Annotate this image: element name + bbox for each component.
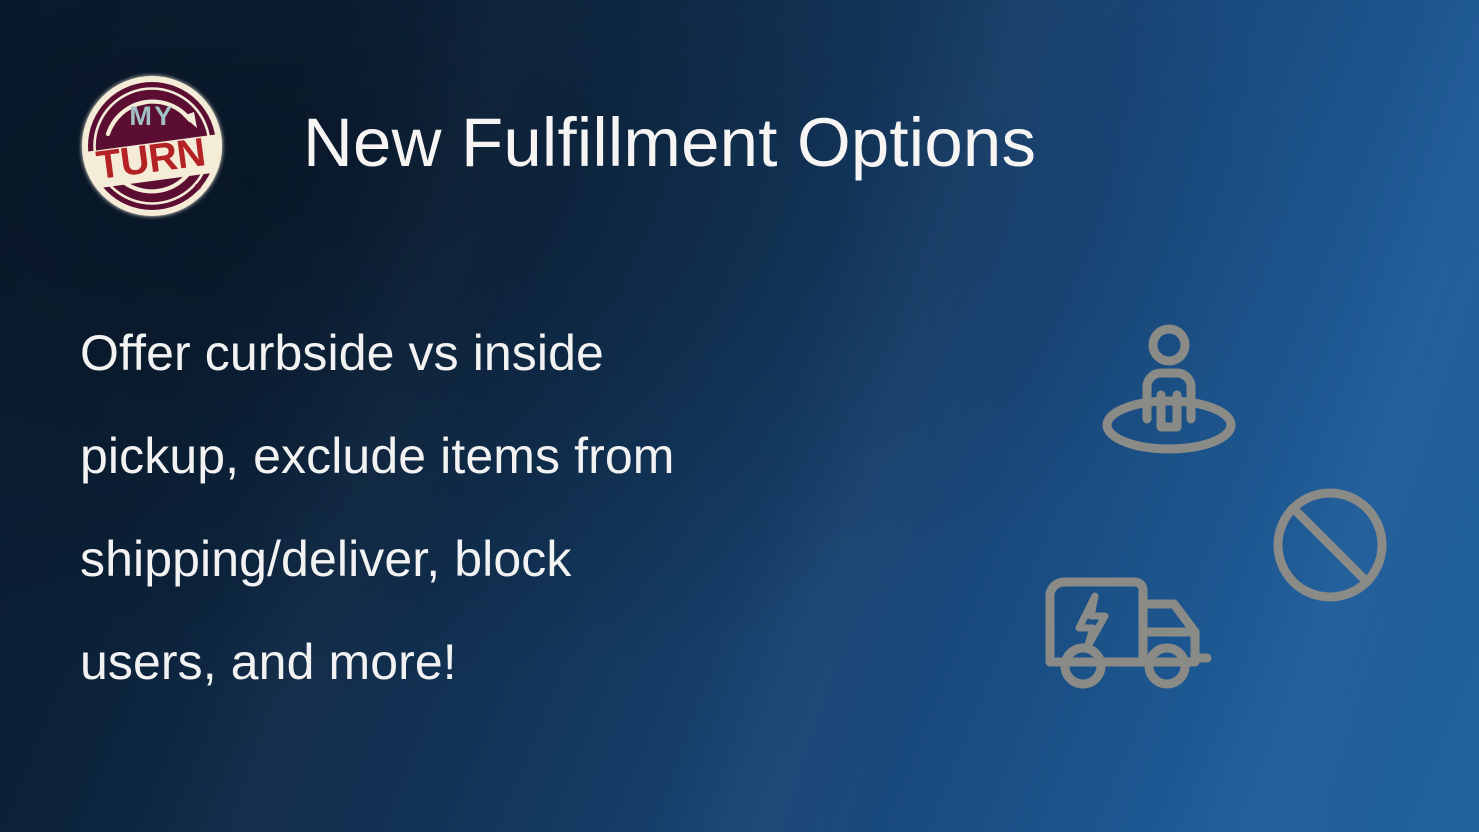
myturn-logo-graphic: MY TURN ® xyxy=(78,72,226,220)
slide-body: Offer curbside vs inside pickup, exclude… xyxy=(80,302,880,714)
body-line: pickup, exclude items from xyxy=(80,405,880,508)
electric-delivery-truck-icon xyxy=(1043,570,1215,690)
block-prohibited-icon xyxy=(1268,483,1392,607)
body-line: Offer curbside vs inside xyxy=(80,302,880,405)
logo-trademark-icon: ® xyxy=(195,182,202,192)
body-line: shipping/deliver, block xyxy=(80,508,880,611)
myturn-logo: MY TURN ® xyxy=(78,72,226,220)
logo-word-my: MY xyxy=(129,101,174,131)
lightning-bolt-icon xyxy=(1079,596,1105,648)
person-location-icon xyxy=(1095,315,1243,463)
slide-canvas: MY TURN ® New Fulfillment Options Offer … xyxy=(0,0,1479,832)
slide-title: New Fulfillment Options xyxy=(303,108,1036,177)
body-line: users, and more! xyxy=(80,611,880,714)
